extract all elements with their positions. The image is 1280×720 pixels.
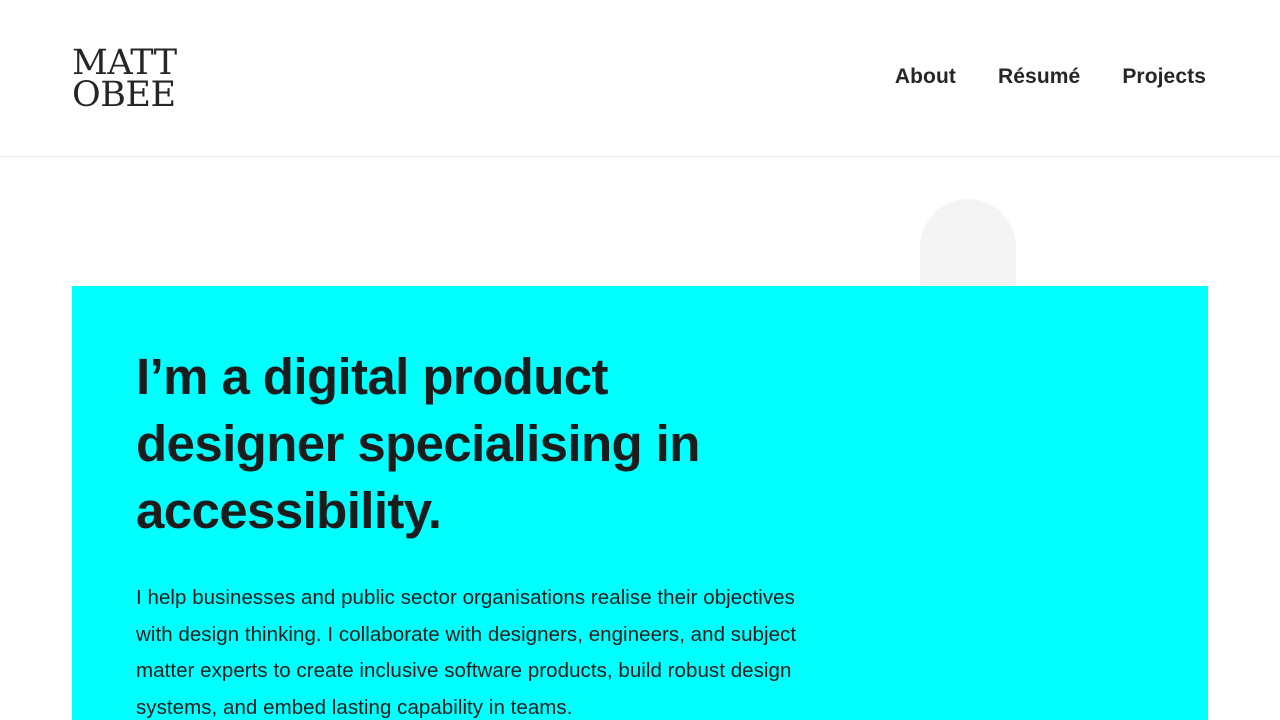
decorative-pill-tall-upper (920, 199, 1016, 286)
nav-item-projects[interactable]: Projects (1120, 62, 1208, 91)
main-navigation: About Résumé Projects (893, 62, 1208, 91)
hero-headline: I’m a digital product designer specialis… (136, 344, 818, 544)
site-header: MATT OBEE About Résumé Projects (0, 0, 1280, 157)
hero-description: I help businesses and public sector orga… (136, 580, 808, 720)
nav-item-resume[interactable]: Résumé (996, 62, 1082, 91)
nav-item-about[interactable]: About (893, 62, 958, 91)
brand-logo-line-2: OBEE (72, 79, 177, 111)
hero-section: I’m a digital product designer specialis… (72, 286, 1208, 720)
brand-logo[interactable]: MATT OBEE (72, 47, 177, 111)
hero-content: I’m a digital product designer specialis… (72, 286, 882, 720)
